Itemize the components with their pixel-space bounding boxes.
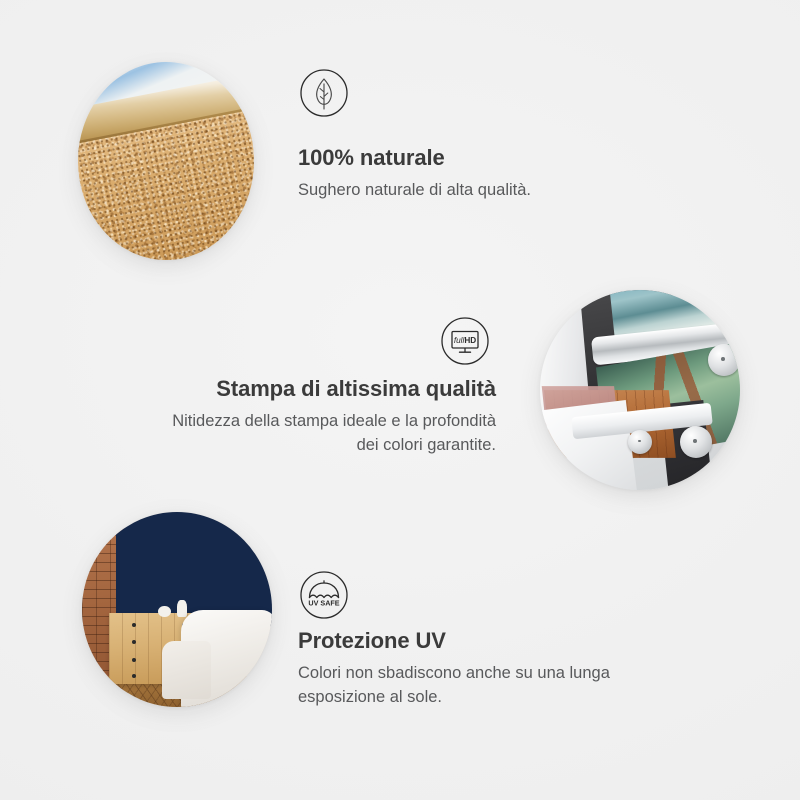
interior-room-photo (82, 512, 272, 707)
feature-title-print-quality: Stampa di altissima qualità (170, 376, 496, 402)
feature-text-natural: 100% naturale Sughero naturale di alta q… (298, 145, 718, 203)
room-photo-decor-figure (177, 600, 187, 618)
printer-photo-knob-3 (628, 430, 652, 454)
uv-safe-label: UV SAFE (308, 598, 339, 607)
feature-text-uv-protection: Protezione UV Colori non sbadiscono anch… (298, 628, 698, 709)
printer-photo-knob-1 (708, 344, 740, 376)
svg-text:fullHD: fullHD (454, 336, 476, 345)
uv-safe-umbrella-icon: UV SAFE (299, 570, 349, 620)
room-photo-armchair-arm (162, 641, 211, 700)
feature-title-natural: 100% naturale (298, 145, 718, 171)
feature-title-uv-protection: Protezione UV (298, 628, 698, 654)
printer-photo-knob-2 (680, 426, 712, 458)
feature-description-natural: Sughero naturale di alta qualità. (298, 179, 718, 202)
cork-texture-photo (78, 62, 254, 260)
feature-description-print-quality: Nitidezza della stampa ideale e la profo… (170, 410, 496, 457)
leaf-icon (299, 68, 349, 118)
printing-machine-photo (540, 290, 740, 490)
infographic-canvas: 100% naturale Sughero naturale di alta q… (0, 0, 800, 800)
fullhd-monitor-icon: fullHD (440, 316, 490, 366)
feature-description-uv-protection: Colori non sbadiscono anche su una lunga… (298, 662, 698, 709)
feature-text-print-quality: Stampa di altissima qualità Nitidezza de… (170, 376, 496, 457)
